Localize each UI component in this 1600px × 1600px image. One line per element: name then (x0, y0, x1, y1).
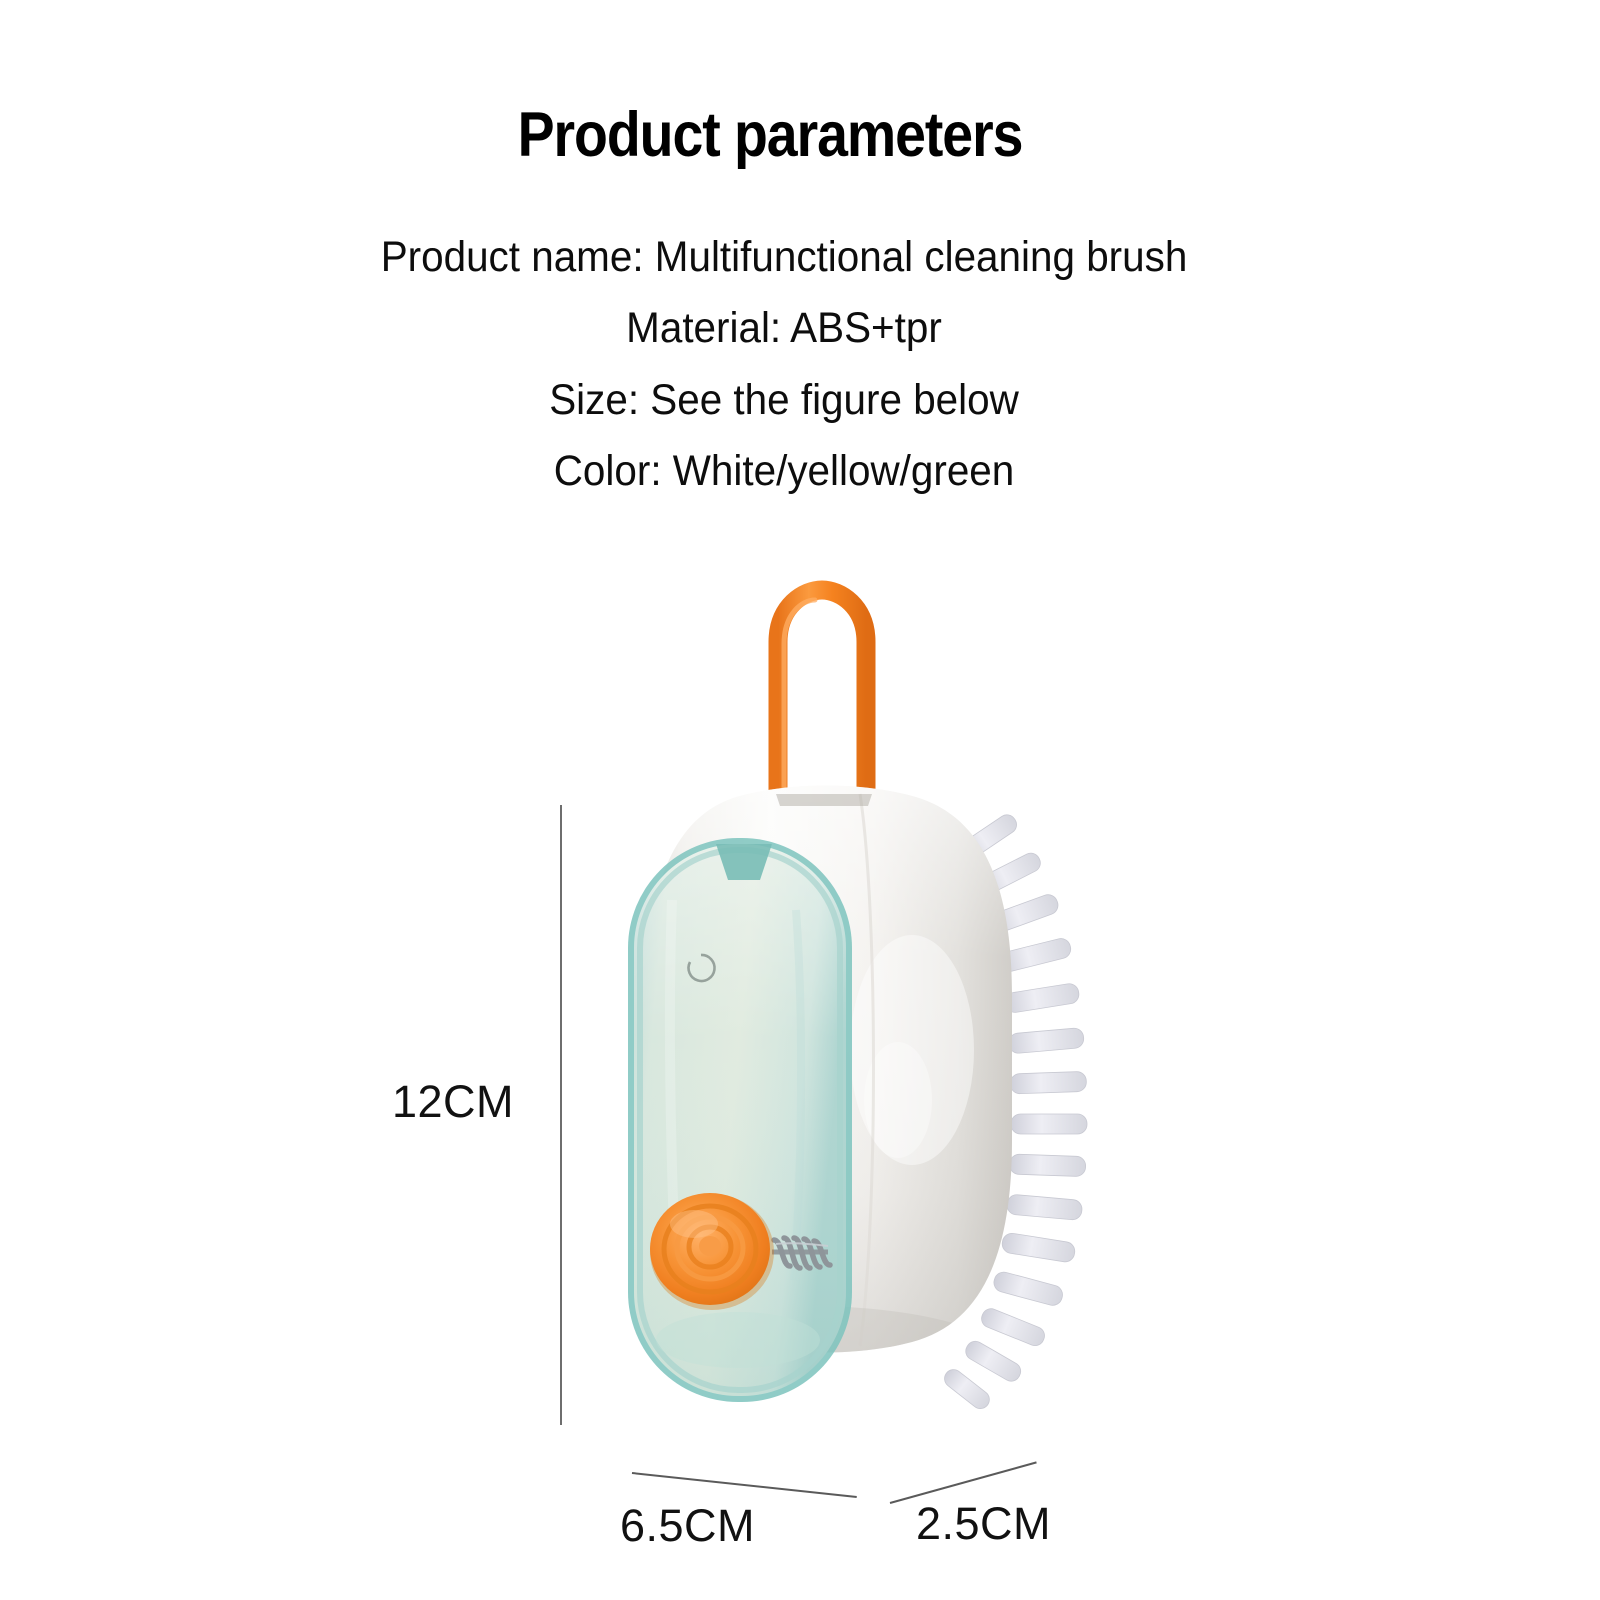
depth-dimension-label: 2.5CM (916, 1498, 1051, 1550)
orange-hanging-loop (778, 590, 866, 818)
cleaning-brush-image (560, 580, 1120, 1480)
product-figure: 12CM 6.5CM 2.5CM (0, 0, 1600, 1600)
width-dimension-label: 6.5CM (620, 1500, 755, 1552)
height-dimension-label: 12CM (392, 1076, 514, 1128)
soap-reservoir-window (628, 838, 852, 1402)
